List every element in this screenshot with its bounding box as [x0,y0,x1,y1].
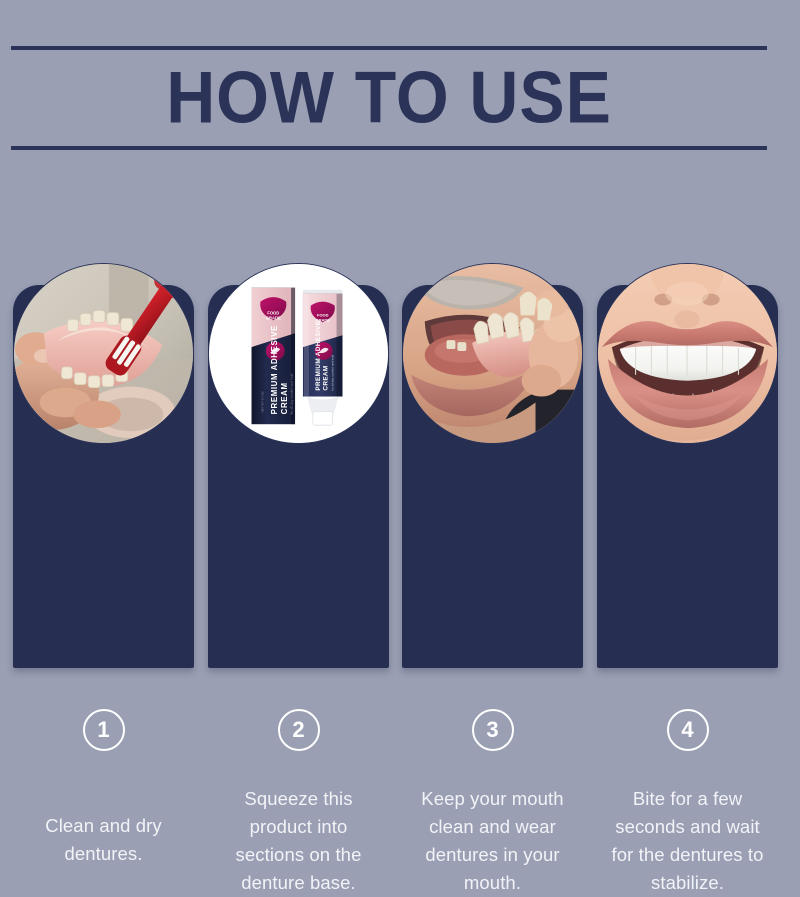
step-caption: Keep your mouth clean and wear dentures … [411,785,574,897]
step-card-2: FOOD GRADE PREMIUM ADHESIVE CREAM for al… [208,285,389,668]
svg-text:NET WT 0.7 OZ: NET WT 0.7 OZ [260,391,264,412]
inserting-denture-photo [402,263,583,444]
step-card-3: 3 Keep your mouth clean and wear denture… [402,285,583,668]
svg-text:GRADE: GRADE [266,315,281,320]
step-caption: Clean and dry dentures. [22,812,185,868]
adhesive-cream-product-photo: FOOD GRADE PREMIUM ADHESIVE CREAM for al… [208,263,389,444]
denture-brushing-photo [13,263,194,444]
step-caption: Squeeze this product into sections on th… [217,785,380,897]
svg-text:CREAM: CREAM [323,365,330,390]
svg-text:PREMIUM ADHESIVE: PREMIUM ADHESIVE [315,321,322,391]
svg-text:CREAM: CREAM [280,382,289,414]
svg-text:for all-day comfort and hold: for all-day comfort and hold [331,354,335,390]
step-number-badge: 1 [83,709,125,751]
step-number-badge: 4 [667,709,709,751]
svg-text:PREMIUM ADHESIVE: PREMIUM ADHESIVE [270,325,279,414]
step-card-4: 4 Bite for a few seconds and wait for th… [597,285,778,668]
steps-row: 1 Clean and dry dentures. [0,0,800,800]
smiling-mouth-photo [597,263,778,444]
step-card-1: 1 Clean and dry dentures. [13,285,194,668]
step-number-badge: 2 [278,709,320,751]
step-caption: Bite for a few seconds and wait for the … [606,785,769,897]
step-number-badge: 3 [472,709,514,751]
